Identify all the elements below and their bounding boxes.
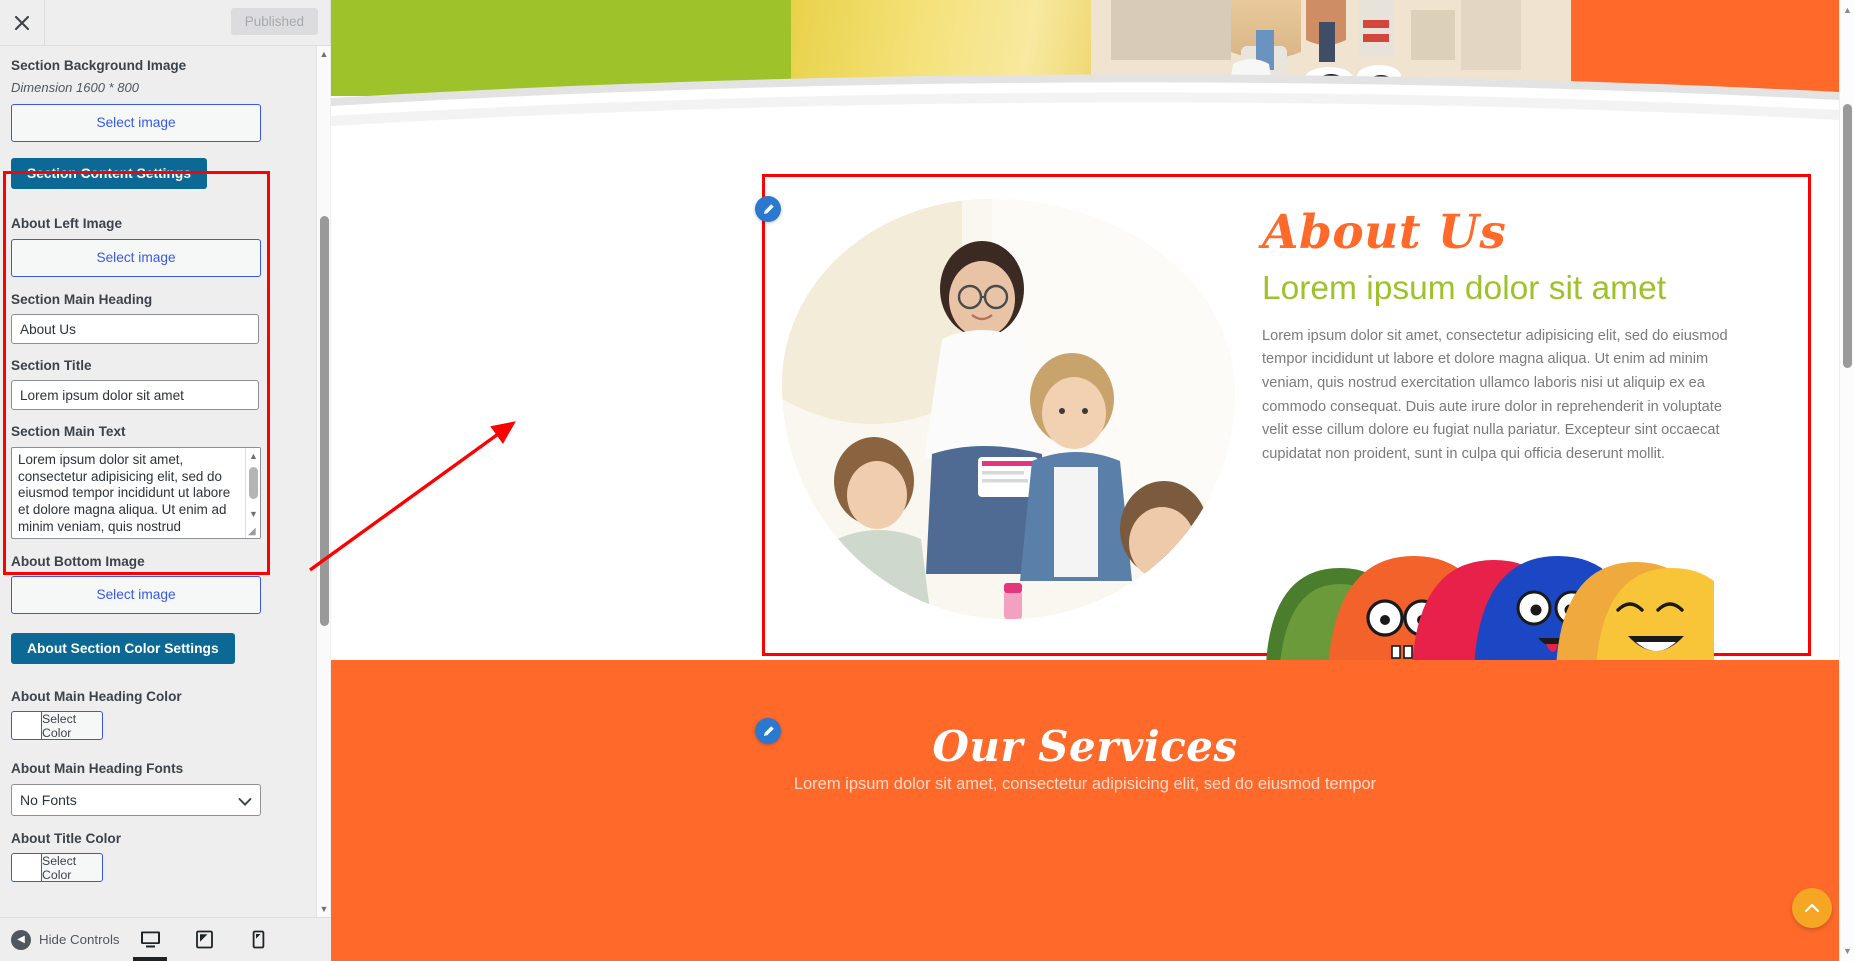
- site-preview: About Us Lorem ipsum dolor sit amet Lore…: [331, 0, 1854, 961]
- chevron-up-icon[interactable]: [1792, 888, 1832, 928]
- section-main-heading-input[interactable]: [11, 314, 259, 344]
- close-icon[interactable]: [0, 0, 45, 45]
- section-title-label: Section Title: [11, 357, 307, 375]
- hide-controls-button[interactable]: ◀ Hide Controls: [11, 930, 120, 950]
- color-swatch[interactable]: [11, 853, 41, 882]
- section-main-text-textarea[interactable]: Lorem ipsum dolor sit amet, consectetur …: [11, 447, 261, 539]
- about-title: Lorem ipsum dolor sit amet: [1262, 268, 1782, 310]
- about-main-heading-fonts-label: About Main Heading Fonts: [11, 760, 307, 778]
- about-section-card: About Us Lorem ipsum dolor sit amet Lore…: [762, 174, 1811, 656]
- about-title-color-control[interactable]: Select Color: [11, 853, 103, 882]
- pencil-icon[interactable]: [755, 718, 781, 744]
- about-left-image: [782, 199, 1235, 619]
- section-title-input[interactable]: [11, 380, 259, 410]
- hero-banner: [331, 0, 1839, 130]
- section-main-text-label: Section Main Text: [11, 423, 307, 441]
- services-heading: Our Services: [331, 722, 1839, 771]
- select-image-button-about-bottom[interactable]: Select image: [11, 576, 261, 614]
- scroll-up-icon[interactable]: ▲: [246, 449, 261, 463]
- tablet-icon[interactable]: [187, 917, 221, 961]
- about-bottom-image-label: About Bottom Image: [11, 553, 307, 571]
- textarea-scrollbar[interactable]: ▲ ▼: [245, 448, 260, 538]
- about-text-column: About Us Lorem ipsum dolor sit amet Lore…: [1262, 207, 1782, 467]
- scroll-down-icon[interactable]: ▼: [1840, 943, 1854, 959]
- services-section: Our Services Lorem ipsum dolor sit amet,…: [331, 660, 1839, 961]
- section-main-text-wrapper: Lorem ipsum dolor sit amet, consectetur …: [11, 447, 261, 539]
- about-heading: About Us: [1262, 207, 1782, 259]
- about-section-color-settings-button[interactable]: About Section Color Settings: [11, 633, 235, 664]
- preview-scroll-thumb[interactable]: [1843, 104, 1852, 368]
- about-body-text: Lorem ipsum dolor sit amet, consectetur …: [1262, 325, 1732, 467]
- about-main-heading-color-control[interactable]: Select Color: [11, 711, 103, 740]
- scroll-up-icon[interactable]: ▲: [317, 46, 331, 62]
- sidebar-scroll-thumb[interactable]: [320, 216, 329, 626]
- scroll-down-icon[interactable]: ▼: [317, 901, 331, 917]
- about-left-image-label: About Left Image: [11, 215, 307, 233]
- device-preview-buttons: [133, 917, 275, 961]
- chevron-left-icon: ◀: [11, 930, 31, 950]
- customizer-app: Published Section Background Image Dimen…: [0, 0, 1854, 961]
- select-image-button-about-left[interactable]: Select image: [11, 239, 261, 277]
- desktop-icon[interactable]: [133, 917, 167, 961]
- about-title-color-label: About Title Color: [11, 830, 307, 848]
- section-content-settings-button[interactable]: Section Content Settings: [11, 158, 207, 189]
- about-main-heading-color-label: About Main Heading Color: [11, 688, 307, 706]
- dimension-note: Dimension 1600 * 800: [11, 80, 307, 95]
- about-main-heading-fonts-select[interactable]: No Fonts: [11, 784, 261, 816]
- published-button[interactable]: Published: [231, 8, 318, 35]
- scroll-up-icon[interactable]: ▲: [1840, 2, 1854, 18]
- select-color-button[interactable]: Select Color: [41, 853, 103, 882]
- section-background-image-label: Section Background Image: [11, 57, 307, 75]
- customizer-sidebar: Published Section Background Image Dimen…: [0, 0, 331, 961]
- preview-scrollbar[interactable]: ▲ ▼: [1839, 0, 1854, 961]
- pencil-icon[interactable]: [755, 196, 781, 222]
- about-main-heading-fonts-wrapper: No Fonts: [11, 784, 261, 816]
- mobile-icon[interactable]: [241, 917, 275, 961]
- sidebar-footer: ◀ Hide Controls: [0, 917, 331, 961]
- section-main-heading-label: Section Main Heading: [11, 291, 307, 309]
- select-image-button-background[interactable]: Select image: [11, 104, 261, 142]
- about-bottom-image: [1262, 546, 1714, 671]
- services-subtitle: Lorem ipsum dolor sit amet, consectetur …: [755, 772, 1415, 797]
- resize-grip-icon[interactable]: ◢: [248, 526, 259, 537]
- select-color-button[interactable]: Select Color: [41, 711, 103, 740]
- sidebar-scrollbar[interactable]: ▲ ▼: [316, 46, 330, 917]
- color-swatch[interactable]: [11, 711, 41, 740]
- sidebar-scroll-area: Section Background Image Dimension 1600 …: [0, 46, 331, 917]
- hide-controls-label: Hide Controls: [39, 932, 120, 947]
- scroll-down-icon[interactable]: ▼: [246, 507, 261, 521]
- textarea-scroll-thumb[interactable]: [249, 467, 258, 499]
- sidebar-header: Published: [0, 0, 330, 46]
